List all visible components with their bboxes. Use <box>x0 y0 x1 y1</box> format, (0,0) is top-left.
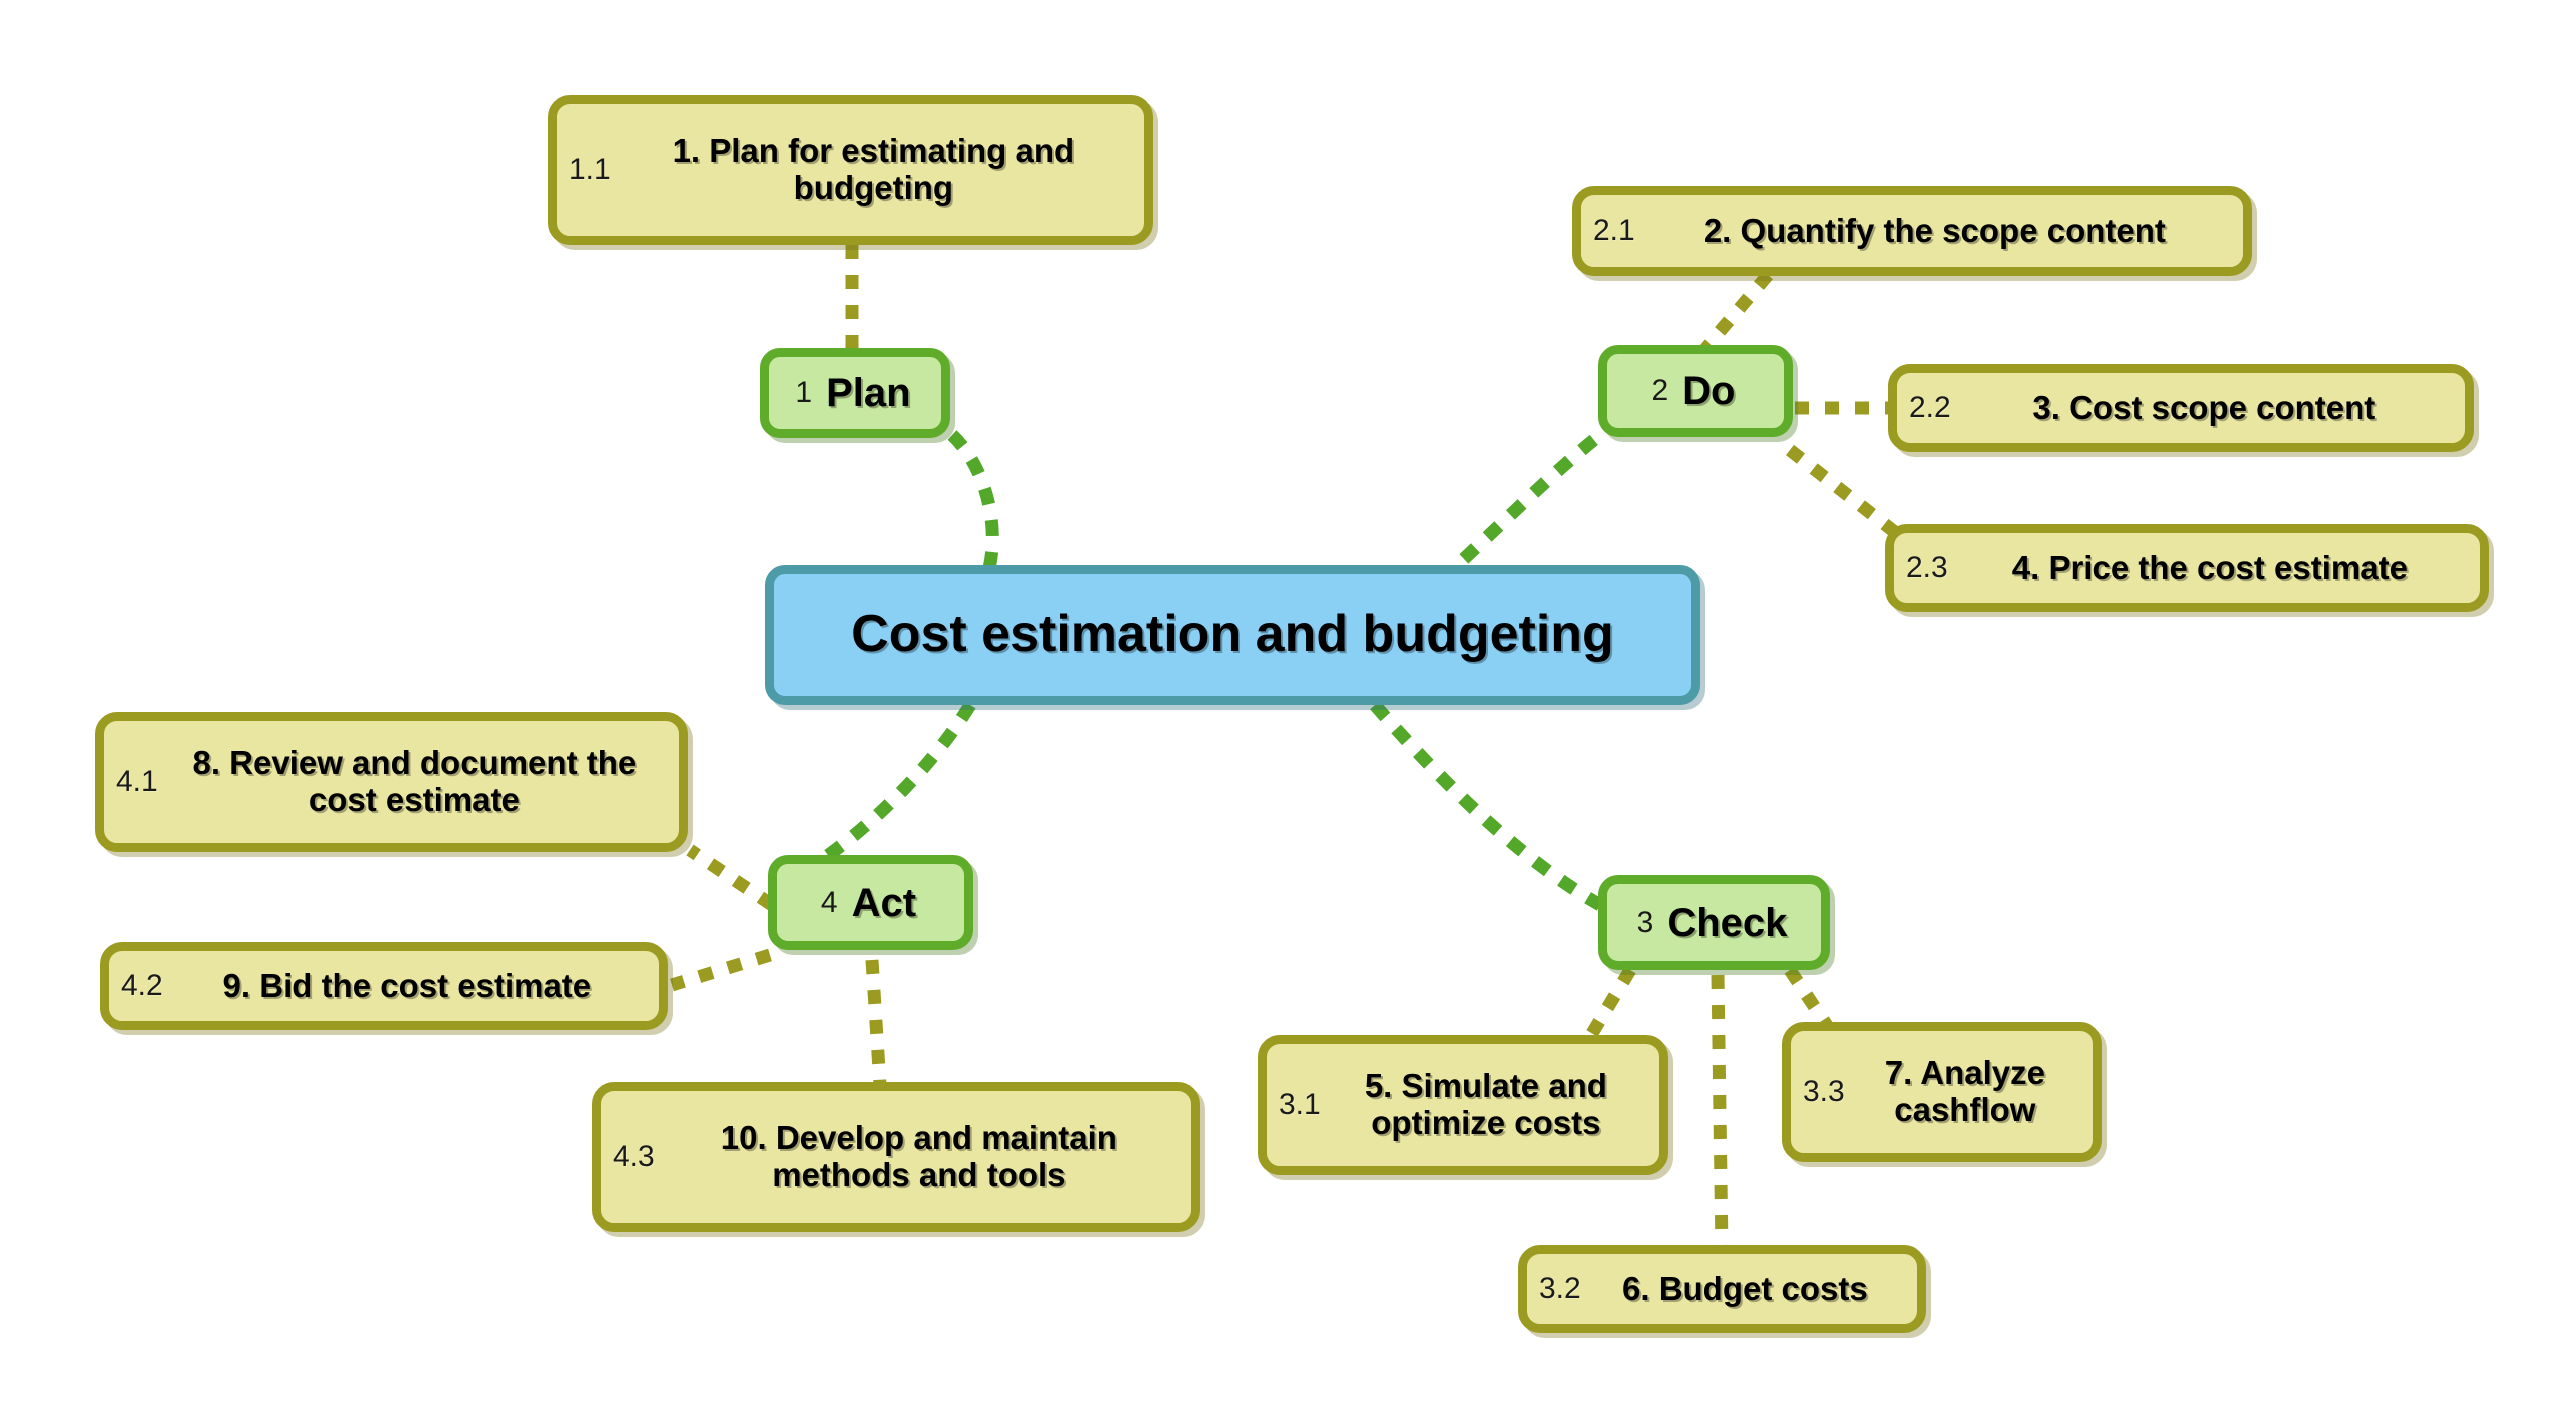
leaf-node-4-3[interactable]: 4.3 10. Develop and maintain methods and… <box>592 1082 1200 1232</box>
branch-label-do: Do <box>1682 369 1735 413</box>
branch-node-check[interactable]: 3 Check <box>1598 875 1830 970</box>
edge-check-3-1 <box>1588 970 1630 1040</box>
leaf-number-4-3: 4.3 <box>613 1142 655 1172</box>
edge-act-4-1 <box>690 850 772 905</box>
leaf-number-2-1: 2.1 <box>1593 216 1635 246</box>
leaf-number-2-2: 2.2 <box>1909 393 1951 423</box>
edge-root-check <box>1375 705 1600 905</box>
edge-check-3-2 <box>1718 975 1722 1248</box>
leaf-label-1-1: 1. Plan for estimating and budgeting <box>621 133 1126 207</box>
root-node[interactable]: Cost estimation and budgeting <box>765 565 1700 705</box>
branch-node-do[interactable]: 2 Do <box>1598 345 1793 437</box>
leaf-number-2-3: 2.3 <box>1906 553 1948 583</box>
leaf-label-3-3: 7. Analyze cashflow <box>1855 1055 2075 1129</box>
leaf-node-3-2[interactable]: 3.2 6. Budget costs <box>1518 1245 1926 1333</box>
branch-label-plan: Plan <box>826 371 910 415</box>
leaf-label-4-1: 8. Review and document the cost estimate <box>168 745 661 819</box>
leaf-node-3-3[interactable]: 3.3 7. Analyze cashflow <box>1782 1022 2102 1162</box>
edge-root-act <box>790 705 970 880</box>
leaf-number-1-1: 1.1 <box>569 155 611 185</box>
leaf-label-4-3: 10. Develop and maintain methods and too… <box>665 1120 1173 1194</box>
leaf-number-4-2: 4.2 <box>121 971 163 1001</box>
leaf-node-2-2[interactable]: 2.2 3. Cost scope content <box>1888 364 2474 452</box>
edge-check-3-3 <box>1790 970 1830 1030</box>
leaf-node-2-1[interactable]: 2.1 2. Quantify the scope content <box>1572 186 2252 276</box>
leaf-label-3-2: 6. Budget costs <box>1591 1271 1899 1308</box>
edge-act-4-3 <box>872 960 880 1085</box>
leaf-node-1-1[interactable]: 1.1 1. Plan for estimating and budgeting <box>548 95 1153 245</box>
leaf-label-2-3: 4. Price the cost estimate <box>1958 550 2462 587</box>
edge-do-2-3 <box>1790 450 1905 540</box>
branch-number-check: 3 <box>1637 908 1654 938</box>
leaf-number-3-3: 3.3 <box>1803 1077 1845 1107</box>
root-label: Cost estimation and budgeting <box>851 606 1614 663</box>
leaf-node-4-1[interactable]: 4.1 8. Review and document the cost esti… <box>95 712 688 852</box>
mindmap-canvas: Cost estimation and budgeting 1 Plan 1.1… <box>0 0 2576 1423</box>
leaf-node-4-2[interactable]: 4.2 9. Bid the cost estimate <box>100 942 668 1030</box>
edge-act-4-2 <box>672 955 770 985</box>
leaf-label-4-2: 9. Bid the cost estimate <box>173 968 641 1005</box>
leaf-number-4-1: 4.1 <box>116 767 158 797</box>
leaf-label-2-1: 2. Quantify the scope content <box>1645 213 2225 250</box>
branch-number-act: 4 <box>821 888 838 918</box>
branch-node-plan[interactable]: 1 Plan <box>760 348 950 438</box>
leaf-label-3-1: 5. Simulate and optimize costs <box>1331 1068 1641 1142</box>
branch-label-check: Check <box>1667 901 1787 945</box>
branch-number-do: 2 <box>1651 376 1668 406</box>
leaf-node-3-1[interactable]: 3.1 5. Simulate and optimize costs <box>1258 1035 1668 1175</box>
leaf-number-3-1: 3.1 <box>1279 1090 1321 1120</box>
leaf-label-2-2: 3. Cost scope content <box>1961 390 2447 427</box>
branch-label-act: Act <box>852 881 916 925</box>
leaf-number-3-2: 3.2 <box>1539 1274 1581 1304</box>
leaf-node-2-3[interactable]: 2.3 4. Price the cost estimate <box>1885 524 2489 612</box>
branch-node-act[interactable]: 4 Act <box>768 855 973 950</box>
edge-do-2-1 <box>1700 275 1768 355</box>
branch-number-plan: 1 <box>795 378 812 408</box>
